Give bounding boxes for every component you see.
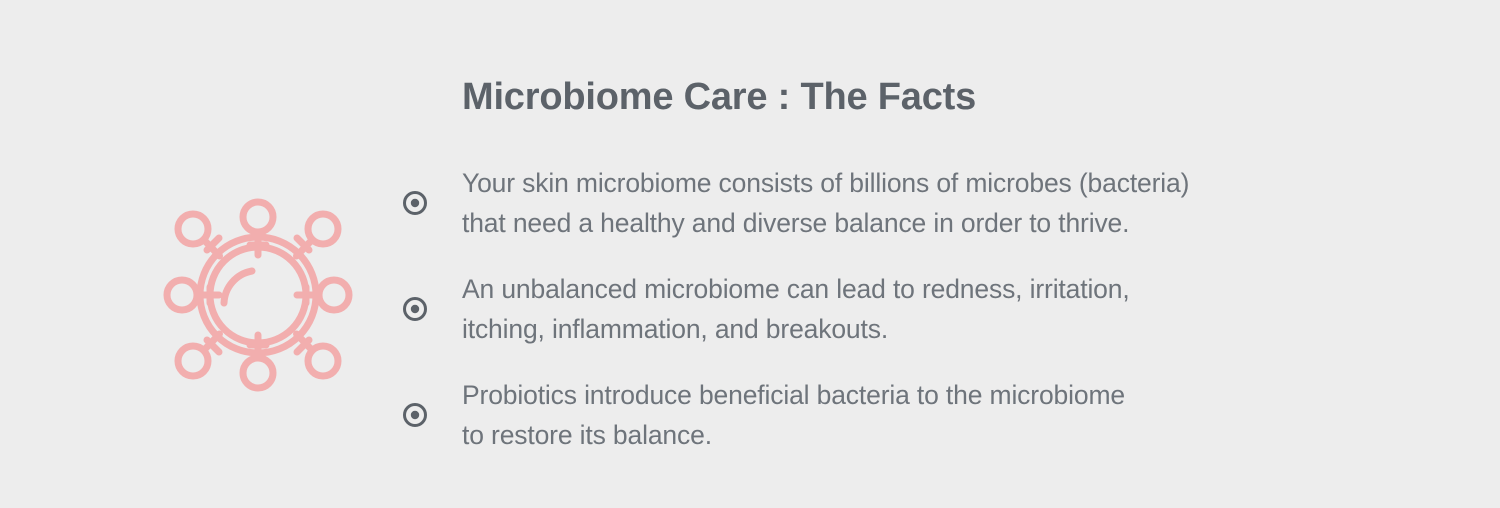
microbe-icon bbox=[158, 193, 358, 397]
microbe-illustration bbox=[158, 193, 358, 397]
fact-item: An unbalanced microbiome can lead to red… bbox=[402, 269, 1362, 349]
fact-item: Your skin microbiome consists of billion… bbox=[402, 163, 1362, 243]
microbe-spoke-sw bbox=[178, 334, 220, 376]
fact-text: An unbalanced microbiome can lead to red… bbox=[462, 269, 1130, 349]
microbe-spoke-nw bbox=[178, 214, 220, 256]
target-bullet-icon bbox=[402, 190, 428, 216]
page-title: Microbiome Care : The Facts bbox=[462, 76, 976, 119]
fact-item: Probiotics introduce beneficial bacteria… bbox=[402, 375, 1362, 455]
microbe-highlight-arc bbox=[224, 271, 252, 303]
fact-text: Probiotics introduce beneficial bacteria… bbox=[462, 375, 1125, 455]
microbe-spoke-ne bbox=[297, 214, 339, 256]
target-bullet-icon bbox=[402, 402, 428, 428]
infographic-panel: Microbiome Care : The Facts Your skin mi… bbox=[0, 0, 1500, 508]
fact-text: Your skin microbiome consists of billion… bbox=[462, 163, 1189, 243]
facts-list: Your skin microbiome consists of billion… bbox=[402, 163, 1362, 455]
target-bullet-icon bbox=[402, 296, 428, 322]
microbe-spoke-se bbox=[297, 334, 339, 376]
